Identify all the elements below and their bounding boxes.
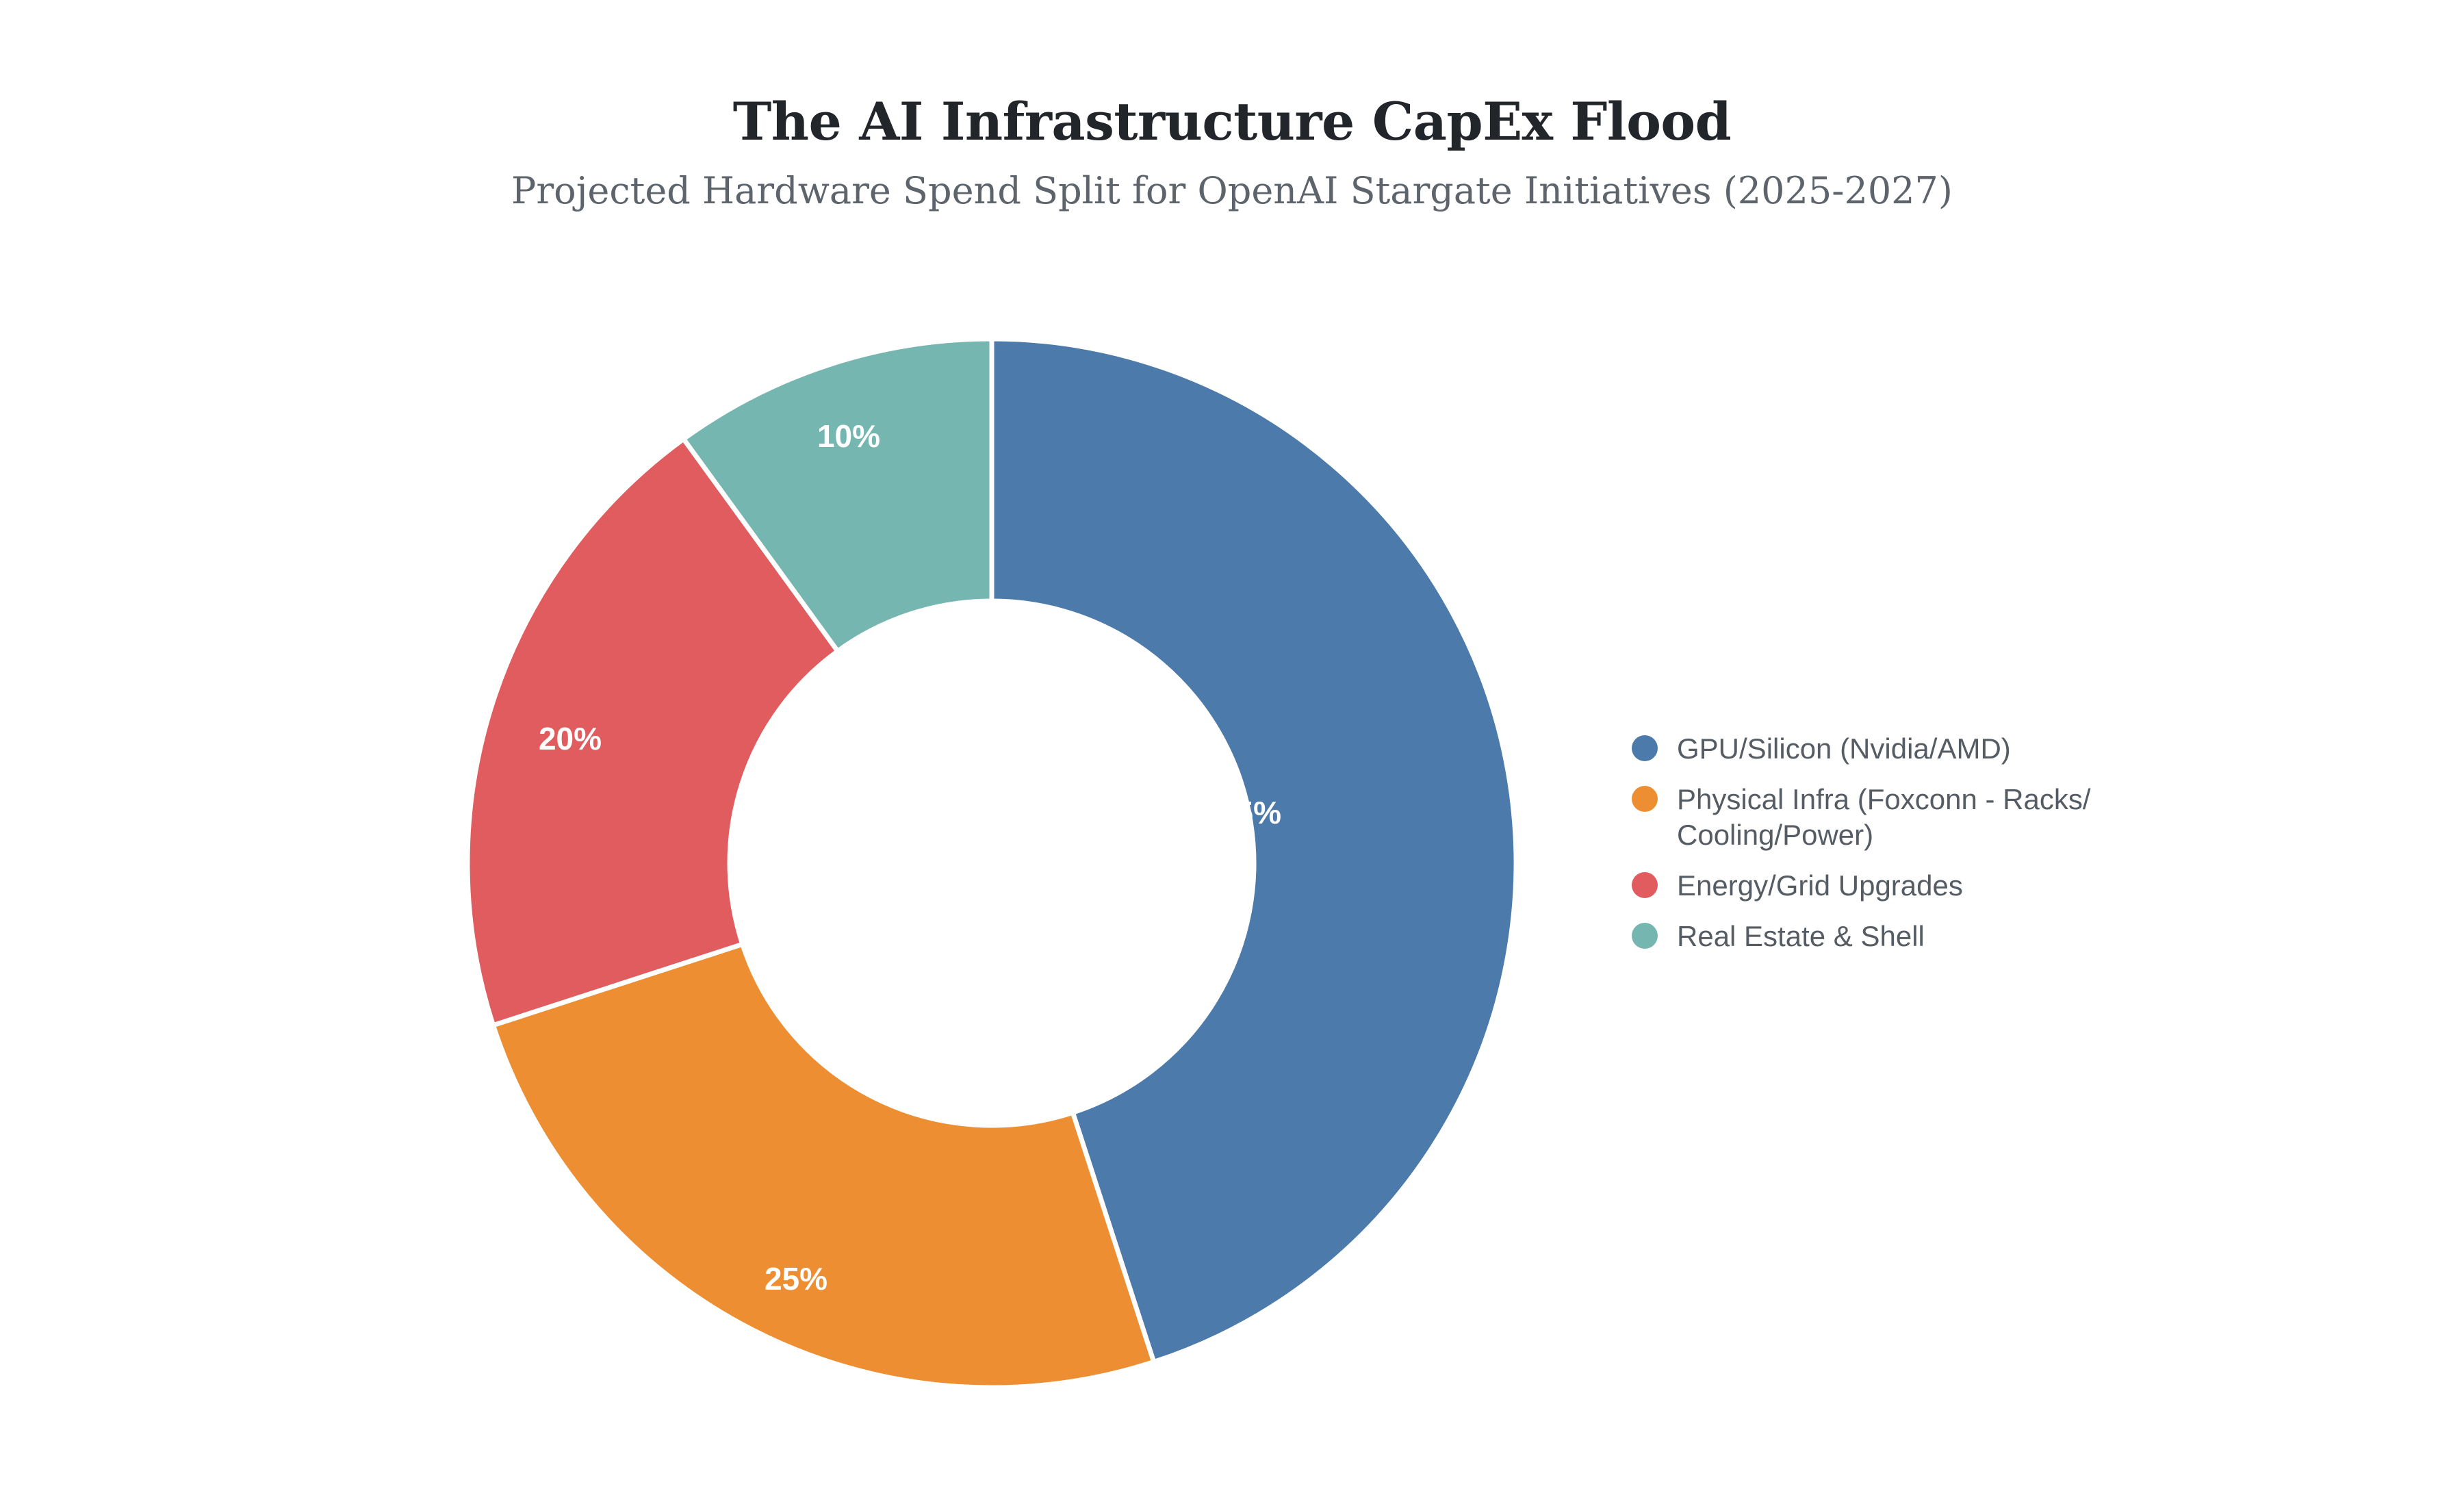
legend-item-label: Physical Infra (Foxconn - Racks/ Cooling…	[1677, 782, 2091, 853]
chart-figure: The AI Infrastructure CapEx Flood Projec…	[0, 0, 2464, 1506]
slice-value-label: 10%	[817, 418, 880, 454]
legend-item-label: GPU/Silicon (Nvidia/AMD)	[1677, 731, 2011, 767]
legend-item-label: Real Estate & Shell	[1677, 919, 1925, 954]
chart-legend: GPU/Silicon (Nvidia/AMD)Physical Infra (…	[1632, 731, 2234, 969]
legend-item[interactable]: Real Estate & Shell	[1632, 919, 2234, 954]
legend-item-label: Energy/Grid Upgrades	[1677, 868, 1963, 904]
slice-value-label: 25%	[765, 1261, 827, 1297]
legend-item[interactable]: GPU/Silicon (Nvidia/AMD)	[1632, 731, 2234, 767]
legend-swatch-icon	[1632, 735, 1658, 761]
legend-swatch-icon	[1632, 872, 1658, 898]
slices-group	[467, 339, 1516, 1388]
legend-item[interactable]: Physical Infra (Foxconn - Racks/ Cooling…	[1632, 782, 2234, 853]
legend-swatch-icon	[1632, 786, 1658, 812]
legend-swatch-icon	[1632, 923, 1658, 949]
slice-value-label: 20%	[539, 721, 602, 756]
slice-value-label: 45%	[1218, 795, 1281, 830]
donut-slice[interactable]	[493, 944, 1153, 1388]
legend-item[interactable]: Energy/Grid Upgrades	[1632, 868, 2234, 904]
